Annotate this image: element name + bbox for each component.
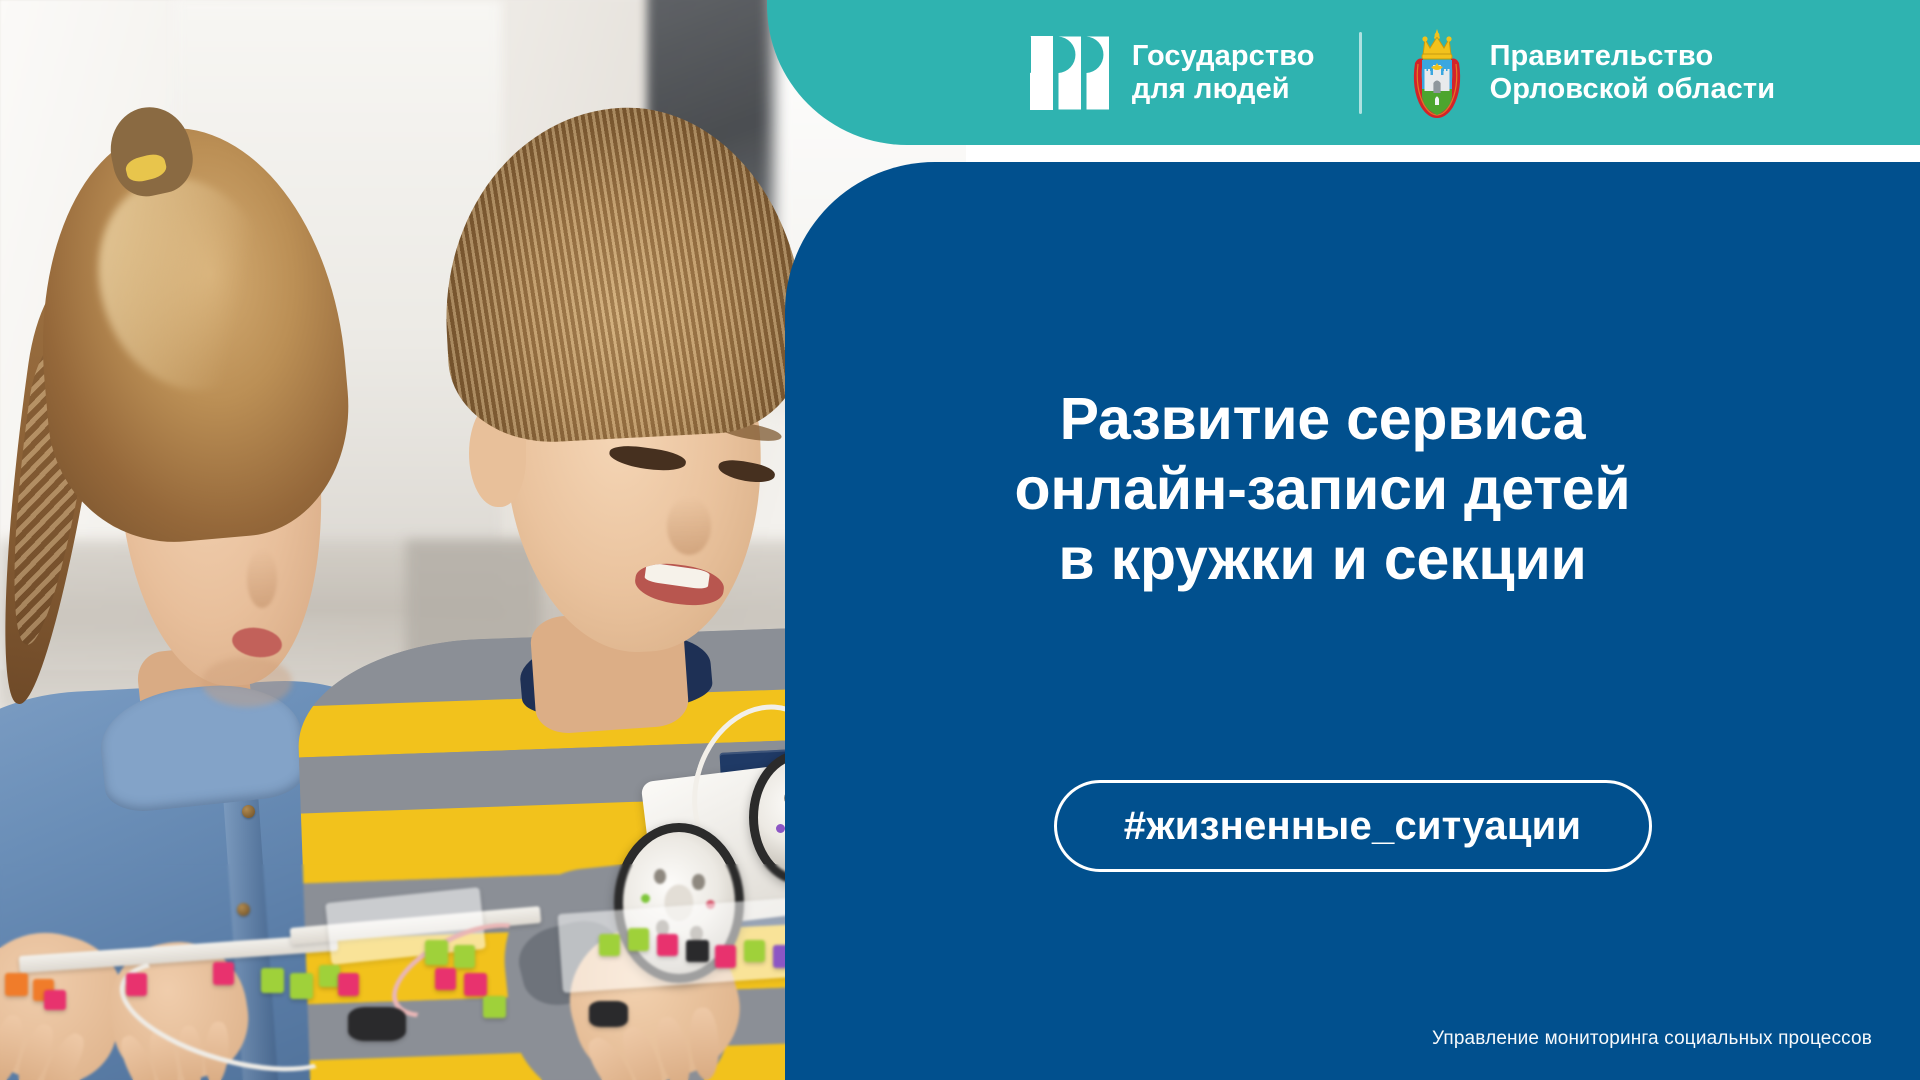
brand-government[interactable]: Правительство Орловской области [1406,27,1776,119]
brand-gosuslugi[interactable]: Государство для людей [1030,36,1315,110]
brand-line-1: Государство [1132,40,1315,72]
content-blue-panel: Развитие сервиса онлайн-записи детей в к… [785,162,1920,1080]
promo-banner: Государство для людей [0,0,1920,1080]
government-line-1: Правительство [1490,40,1714,72]
boy-hair [435,99,809,448]
hashtag-button[interactable]: #жизненные_ситуации [1054,780,1652,872]
vertical-divider [1359,32,1362,114]
oryol-oblast-coat-of-arms-icon [1406,27,1468,119]
government-line-2: Орловской области [1490,73,1776,105]
page-title: Развитие сервиса онлайн-записи детей в к… [785,384,1860,595]
brand-government-text: Правительство Орловской области [1490,40,1776,106]
header-teal-panel: Государство для людей [767,0,1920,145]
girl-chin-shadow [202,657,292,706]
logo-row: Государство для людей [1030,27,1775,119]
three-bars-logo-icon [1030,36,1110,110]
girl-nose [247,549,277,608]
boy-nose [667,497,712,555]
headline-line-1: Развитие сервиса [785,384,1860,454]
headline-line-3: в кружки и секции [785,524,1860,594]
brand-line-2: для людей [1132,73,1290,105]
department-credit: Управление мониторинга социальных процес… [1432,1028,1872,1050]
brand-gosuslugi-text: Государство для людей [1132,40,1315,106]
headline-line-2: онлайн-записи детей [785,454,1860,524]
